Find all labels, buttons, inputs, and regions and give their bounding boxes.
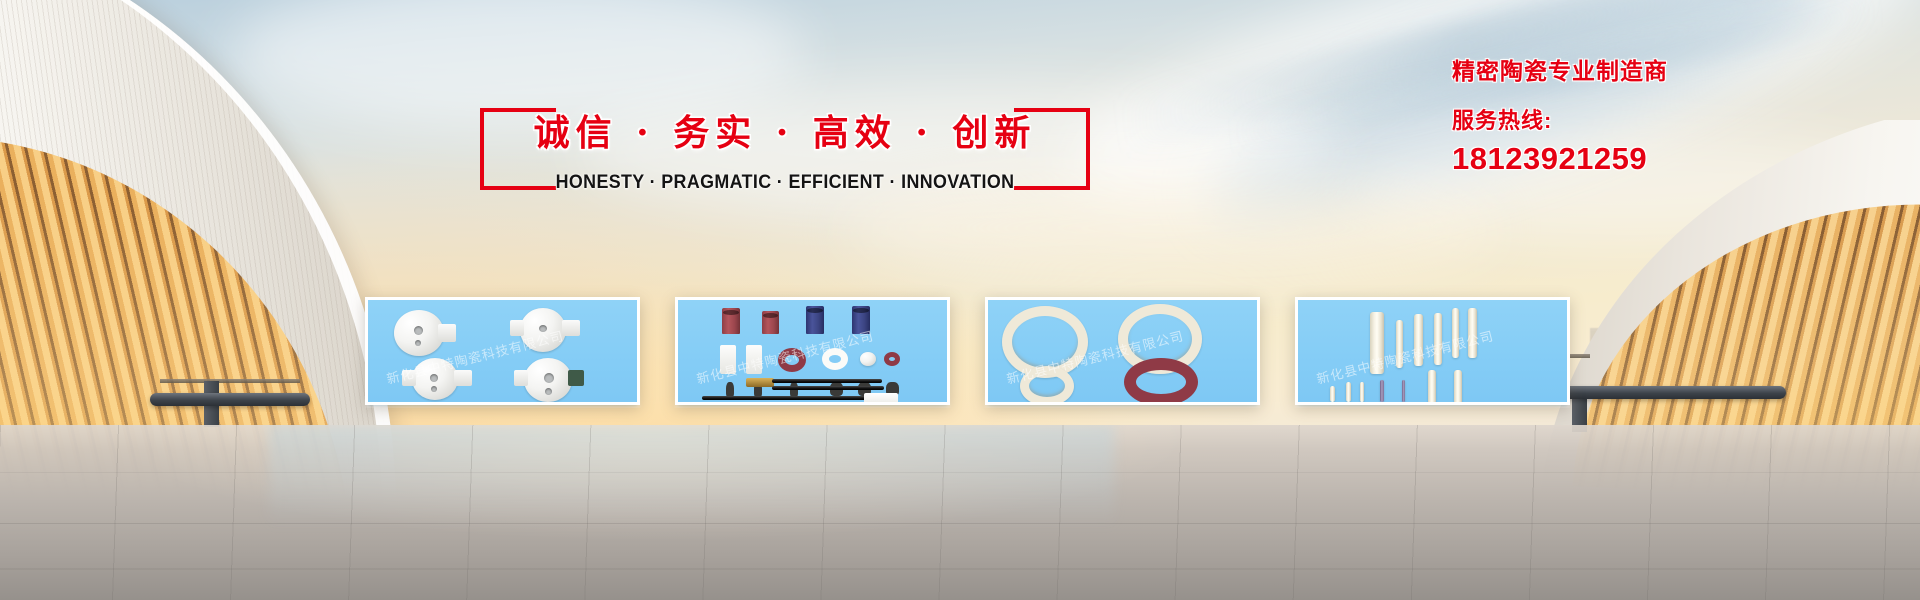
holder-hole [414,326,423,335]
product-panel-group: 新化县中特陶瓷科技有限公司 [365,297,1570,405]
ceramic-ring [822,348,848,370]
ceramic-rod [1434,313,1442,365]
product-panel-lamp-holders[interactable]: 新化县中特陶瓷科技有限公司 [365,297,640,405]
ceramic-rod [1360,382,1364,402]
tube-opening [853,308,868,313]
lamp-holder [412,358,458,400]
tube-opening [807,308,822,313]
ceramic-ring [1124,358,1198,402]
wire-lead [772,386,884,390]
tube-opening [723,310,738,315]
panel-plate: 新化县中特陶瓷科技有限公司 [678,300,947,402]
floor-tile-lines-horizontal [0,425,1920,600]
railing-bar [160,379,300,383]
wire-connector [864,393,898,402]
ceramic-rod [1330,386,1335,402]
wire-terminal [746,378,774,387]
cloud [845,180,1498,276]
holder-terminal [568,370,584,386]
ceramic-plate [720,345,736,374]
tube-opening [763,313,777,318]
wire-lead [702,396,866,400]
slogan-block: 诚信 · 务实 · 高效 · 创新 HONESTY · PRAGMATIC · … [480,108,1090,190]
ceramic-ring [884,352,900,366]
ceramic-rod [1402,380,1405,402]
hotline-number[interactable]: 18123921259 [1452,141,1872,177]
contact-block: 精密陶瓷专业制造商 服务热线: 18123921259 [1452,52,1872,177]
ceramic-plate [746,345,762,374]
holder-hole [545,388,552,395]
ceramic-rod [1370,312,1384,374]
ceramic-tube [852,306,870,334]
panel-plate: 新化县中特陶瓷科技有限公司 [368,300,637,402]
ceramic-ring [1020,366,1074,402]
wire-lead [772,379,882,383]
holder-hole [430,374,438,382]
holder-tab [514,370,528,386]
lamp-holder [524,358,572,402]
holder-hole [544,373,554,383]
ceramic-tube [762,311,779,334]
ceramic-rod [1346,382,1351,402]
company-tagline: 精密陶瓷专业制造商 [1452,52,1872,86]
holder-tab [438,324,456,342]
ceramic-rod [1452,308,1459,358]
ceramic-tube [806,306,824,334]
ceramic-ring [778,348,806,372]
ceramic-tube [722,308,740,334]
promotional-banner: 新化县中特陶瓷科技有限公司 [0,0,1920,600]
holder-hole [431,386,437,392]
product-panel-rods[interactable]: 新化县中特陶瓷科技有限公司 [1295,297,1570,405]
holder-hole [539,325,547,332]
lamp-holder [520,308,566,352]
holder-hole [415,340,421,346]
holder-tab [562,320,580,336]
panel-plate: 新化县中特陶瓷科技有限公司 [1298,300,1567,402]
ceramic-rod [1428,370,1436,402]
slogan-english: HONESTY · PRAGMATIC · EFFICIENT · INNOVA… [498,172,1071,194]
slogan-chinese: 诚信 · 务实 · 高效 · 创新 [480,104,1090,156]
railing-bar [150,393,310,406]
product-panel-rings[interactable]: 新化县中特陶瓷科技有限公司 [985,297,1260,405]
ceramic-rod [1396,320,1403,368]
ceramic-rod [1380,380,1384,402]
hotline-label: 服务热线: [1452,103,1872,135]
product-panel-tubes-wires[interactable]: 新化县中特陶瓷科技有限公司 [675,297,950,405]
ceramic-cap [860,352,876,366]
lamp-holder [394,310,444,356]
holder-tab [454,370,472,386]
terrace-floor [0,425,1920,600]
holder-tab [510,320,524,336]
panel-plate: 新化县中特陶瓷科技有限公司 [988,300,1257,402]
railing-bar [1546,386,1786,399]
ceramic-rod [1468,308,1477,358]
ceramic-rod [1414,314,1423,366]
holder-tab [402,370,416,386]
ceramic-rod [1454,370,1462,402]
